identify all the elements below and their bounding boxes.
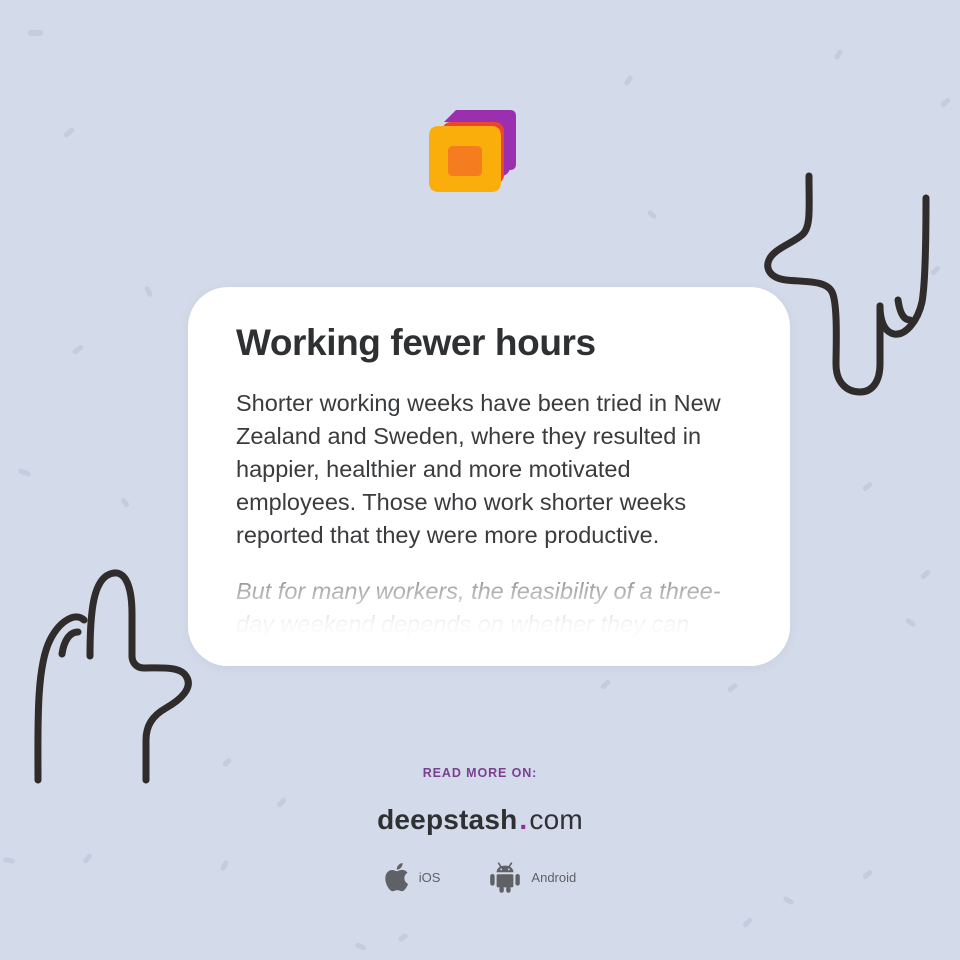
confetti-speck [354,942,366,951]
idea-card[interactable]: Working fewer hours Shorter working week… [188,287,790,666]
wordmark-name: deepstash [377,804,517,835]
confetti-speck [28,30,43,36]
confetti-speck [144,285,154,297]
card-content: Working fewer hours Shorter working week… [188,287,790,666]
wordmark-dot: . [517,804,529,835]
android-store-badge[interactable]: Android [488,862,576,893]
confetti-speck [862,481,874,492]
wordmark-tld: com [529,804,583,835]
confetti-speck [920,569,931,580]
confetti-speck [600,679,611,690]
confetti-speck [782,896,794,906]
confetti-speck [930,265,941,276]
confetti-speck [18,468,32,477]
read-more-label: READ MORE ON: [0,766,960,780]
page-title: Working fewer hours [236,321,742,365]
confetti-speck [120,497,130,508]
confetti-speck [833,49,843,61]
confetti-speck [905,617,917,628]
android-icon [488,862,522,893]
confetti-speck [647,209,658,219]
deepstash-logo-icon [428,104,516,196]
confetti-speck [940,97,952,108]
confetti-speck [63,127,75,139]
card-paragraph-secondary: But for many workers, the feasibility of… [236,575,742,641]
footer: READ MORE ON: deepstash.com iOS [0,766,960,893]
apple-icon [384,862,410,893]
confetti-speck [72,344,85,355]
confetti-speck [397,933,408,943]
card-paragraph-primary: Shorter working weeks have been tried in… [236,387,742,552]
confetti-speck [742,917,753,929]
android-store-label: Android [531,870,576,885]
ios-store-label: iOS [419,870,441,885]
deepstash-wordmark[interactable]: deepstash.com [0,806,960,834]
confetti-speck [727,682,739,693]
poster-canvas: Working fewer hours Shorter working week… [0,0,960,960]
ios-store-badge[interactable]: iOS [384,862,441,893]
confetti-speck [623,75,633,87]
app-store-badges: iOS [0,862,960,893]
